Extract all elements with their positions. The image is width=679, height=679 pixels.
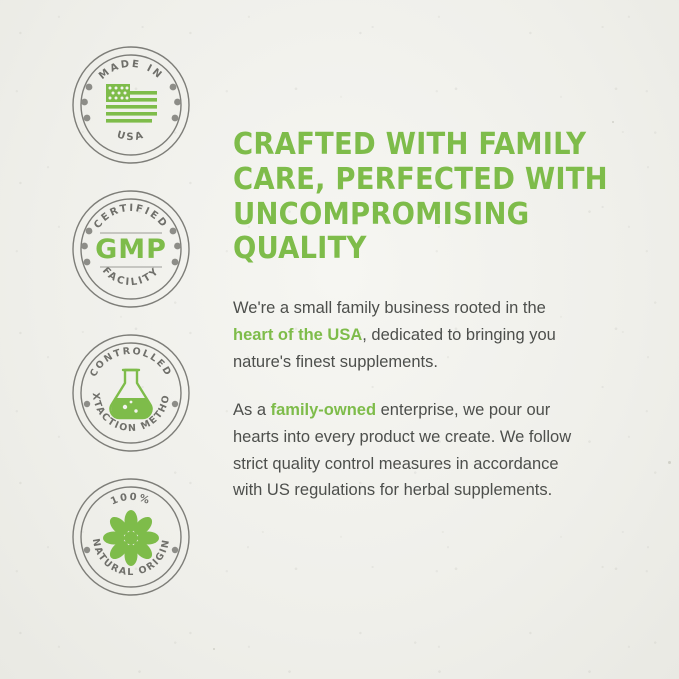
text-content: CRAFTED WITH FAMILY CARE, PERFECTED WITH… <box>233 128 653 504</box>
svg-text:CONTROLLED: CONTROLLED <box>88 346 174 379</box>
paragraph-1-highlight: heart of the USA <box>233 326 362 344</box>
paragraph-2: As a family-owned enterprise, we pour ou… <box>233 397 585 504</box>
natural-origin-badge: 100% NATURAL ORIGIN <box>70 476 192 598</box>
usa-flag-icon <box>106 84 157 123</box>
paper-speck <box>612 121 614 123</box>
svg-text:USA: USA <box>116 130 147 144</box>
certification-badges: MADE IN USA <box>56 44 206 598</box>
made-in-usa-badge: MADE IN USA <box>70 44 192 166</box>
paragraph-1-part-1: We're a small family business rooted in … <box>233 299 546 317</box>
paper-speck <box>668 461 671 464</box>
paragraph-2-highlight: family-owned <box>271 401 376 419</box>
star-decorations <box>81 84 181 122</box>
gmp-facility-badge: CERTIFIED FACILITY GMP CERTIFIED GMP FAC… <box>70 188 192 310</box>
headline: CRAFTED WITH FAMILY CARE, PERFECTED WITH… <box>233 128 613 267</box>
svg-text:FACILITY: FACILITY <box>100 265 162 288</box>
paragraph-2-part-1: As a <box>233 401 271 419</box>
gmp-text-icon: GMP <box>95 234 167 265</box>
paragraph-1: We're a small family business rooted in … <box>233 295 585 375</box>
svg-text:MADE IN: MADE IN <box>97 59 165 82</box>
leaf-rosette-icon <box>103 510 159 566</box>
paper-speck <box>213 648 215 650</box>
controlled-extraction-badge: CONTROLLED EXTACTION METHOD CONTROLLED E… <box>70 332 192 454</box>
svg-text:100%: 100% <box>109 492 152 508</box>
